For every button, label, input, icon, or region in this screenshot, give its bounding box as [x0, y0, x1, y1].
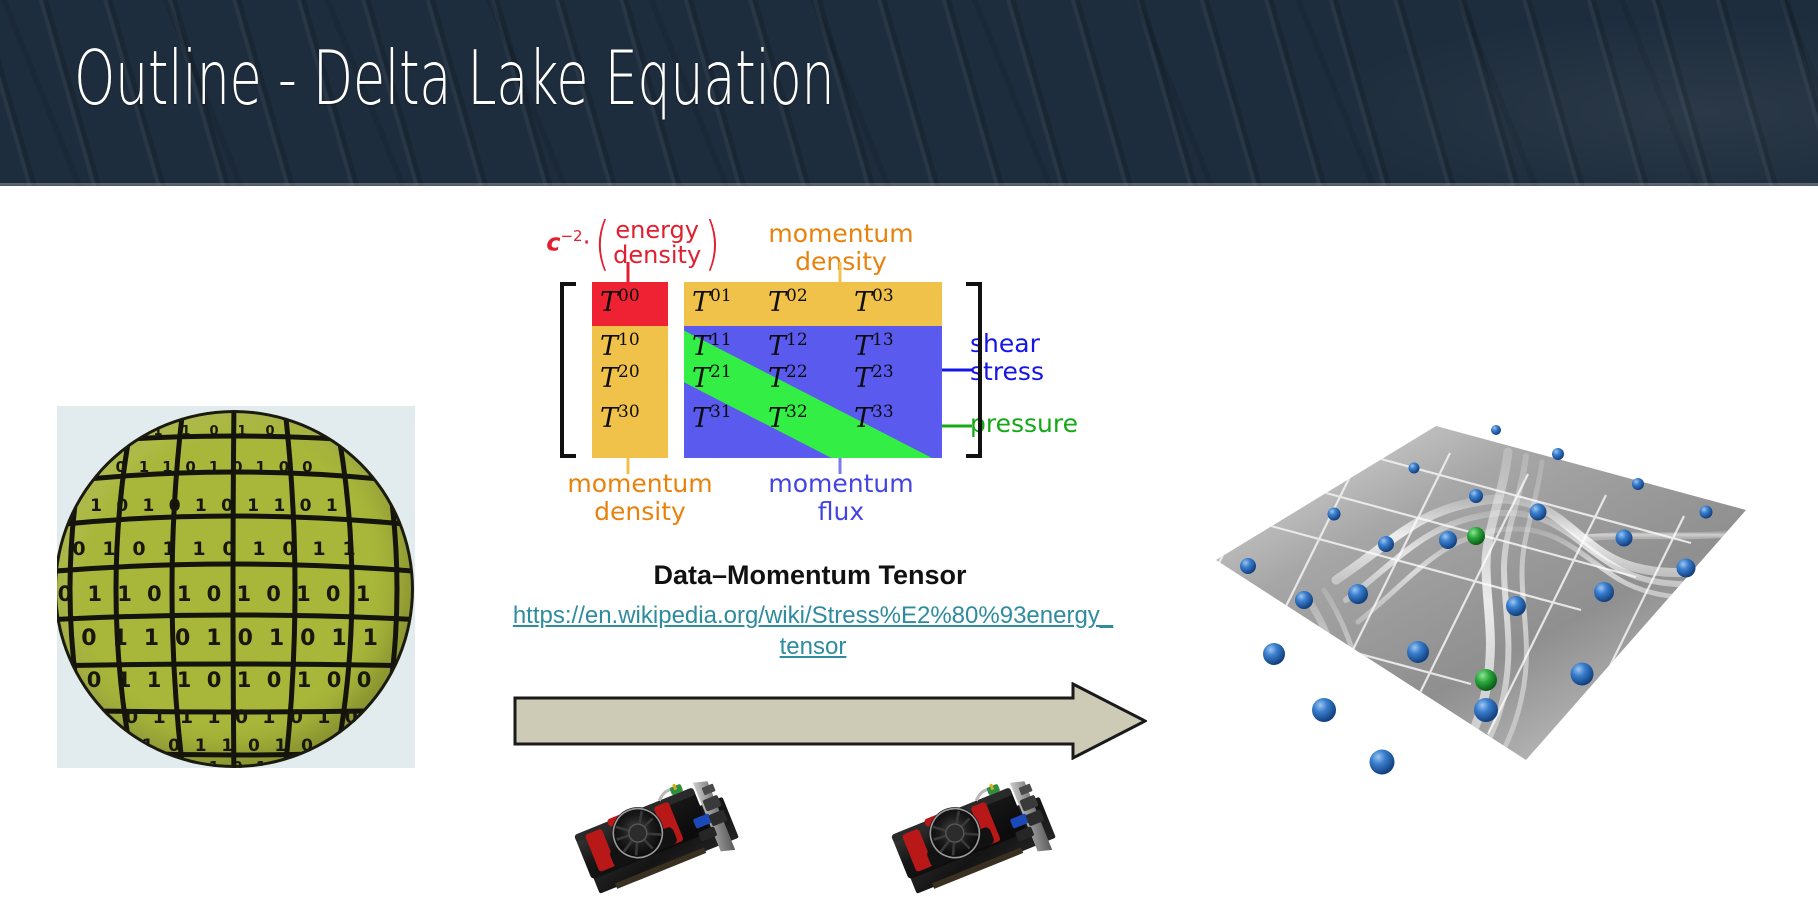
sphere-digit: 1	[209, 458, 219, 476]
sphere-grid-lines	[57, 410, 414, 768]
lattice-node-highlight-upper	[1467, 527, 1485, 545]
sphere-digit: 0	[221, 496, 233, 516]
sphere-digit: 1	[102, 538, 115, 560]
spacetime-lattice-diagram	[1186, 390, 1762, 780]
wikipedia-link-line2[interactable]: tensor	[780, 633, 847, 660]
sphere-digit: 0	[357, 668, 372, 692]
sphere-digit: 0	[267, 668, 282, 692]
sphere-digit: 1	[237, 424, 246, 439]
sphere-digit: 0	[115, 758, 125, 768]
tensor-matrix: T00T01T02T03T10T11T12T13T20T21T22T23T30T…	[592, 282, 942, 458]
sphere-digit: 1	[180, 706, 193, 728]
sphere-digit: 0	[70, 706, 83, 728]
sphere-digit: 1	[255, 458, 265, 476]
spacetime-lattice-image	[1186, 390, 1762, 780]
sphere-digit: 1	[297, 668, 312, 692]
sphere-digit: 0	[125, 706, 138, 728]
sphere-digit: 1	[356, 582, 371, 606]
sphere-digit: 1	[143, 496, 155, 516]
sphere-digit: 0	[290, 706, 303, 728]
matrix-cell-T10: T10	[600, 330, 640, 362]
sphere-digit: 1	[90, 496, 102, 516]
wikipedia-link-line1[interactable]: https://en.wikipedia.org/wiki/Stress%E2%…	[513, 602, 1113, 629]
sphere-digit: 0	[326, 582, 341, 606]
sphere-digit: 1	[275, 736, 287, 756]
flow-arrow-right	[513, 682, 1147, 760]
sphere-digit: 0	[232, 758, 242, 768]
sphere-digit: 0	[58, 582, 73, 606]
sphere-digit: 1	[153, 424, 162, 439]
sphere-digit: 1	[247, 496, 259, 516]
sphere-digit: 0	[279, 458, 289, 476]
sphere-digit: 0	[279, 758, 289, 768]
sphere-digit: 0	[132, 538, 145, 560]
sphere-digit: 1	[303, 758, 313, 768]
sphere-digit: 1	[331, 626, 346, 651]
sphere-digit: 1	[256, 758, 266, 768]
sphere-digit: 0	[169, 496, 181, 516]
sphere-digit: 0	[209, 424, 218, 439]
gpu-graphics-card-2	[882, 770, 1092, 920]
header-glow-overlay	[1258, 0, 1818, 186]
bracket-right-icon	[966, 282, 982, 458]
sphere-digit: 0	[345, 706, 358, 728]
matrix-cell-T01: T01	[692, 286, 732, 318]
matrix-cell-T21: T21	[692, 362, 732, 394]
sphere-digit: 1	[206, 626, 221, 651]
matrix-cell-T11: T11	[692, 330, 732, 362]
sphere-digit: 0	[235, 706, 248, 728]
sphere-digit: 0	[185, 458, 195, 476]
sphere-digit: 1	[252, 538, 265, 560]
header-bottom-rule	[0, 183, 1818, 186]
matrix-cell-T33: T33	[854, 402, 894, 434]
sphere-digit: 1	[57, 668, 71, 692]
sphere-digit: 1	[162, 758, 172, 768]
sphere-digit: 1	[87, 582, 102, 606]
sphere-digit: 0	[266, 582, 281, 606]
sphere-digit-row: 011010100	[109, 458, 319, 476]
sphere-digit: 1	[236, 582, 251, 606]
sphere-digit: 1	[139, 458, 149, 476]
sphere-digit: 0	[115, 736, 127, 756]
sphere-digit: 0	[115, 458, 125, 476]
sphere-digit: 0	[168, 736, 180, 756]
matrix-cell-T30: T30	[600, 402, 640, 434]
sphere-digit: 0	[175, 626, 190, 651]
sphere-digit: 1	[262, 706, 275, 728]
sphere-digit: 0	[302, 458, 312, 476]
matrix-cell-T00: T00	[600, 286, 640, 318]
sphere-digit: 1	[117, 582, 132, 606]
sphere-digit: 0	[232, 458, 242, 476]
sphere-digit: 0	[300, 496, 312, 516]
sphere-digit-row: 10111010100	[57, 668, 379, 692]
sphere-digit: 1	[88, 736, 100, 756]
sphere-digit-row: 11010	[144, 424, 284, 439]
sphere-digit: 1	[177, 668, 192, 692]
matrix-cell-T23: T23	[854, 362, 894, 394]
sphere-digit: 0	[300, 626, 315, 651]
sphere-digit: 0	[301, 736, 313, 756]
figure-caption: Data–Momentum Tensor	[470, 560, 1150, 591]
sphere-digit-row: 011010101	[108, 758, 320, 768]
sphere-digit-row: 01101010101	[57, 582, 378, 606]
page-title: Outline - Delta Lake Equation	[74, 34, 834, 122]
stress-energy-tensor-figure: c−2·(energydensity) momentum density mom…	[540, 218, 1100, 538]
sphere-digit: 1	[317, 706, 330, 728]
sphere-digit: 0	[116, 496, 128, 516]
matrix-cell-T12: T12	[768, 330, 808, 362]
binary-sphere-globe: 1101001101010010101011010101101011011010…	[57, 410, 414, 768]
sphere-digit: 0	[87, 668, 102, 692]
sphere-digit: 1	[312, 538, 325, 560]
sphere-digit-row: 01011101010	[63, 706, 365, 728]
sphere-digit: 1	[269, 626, 284, 651]
wikipedia-source-link[interactable]: https://en.wikipedia.org/wiki/Stress%E2%…	[438, 600, 1188, 662]
sphere-digit: 0	[222, 538, 235, 560]
sphere-digit: 1	[195, 496, 207, 516]
sphere-digit: 1	[117, 668, 132, 692]
sphere-digit: 1	[152, 706, 165, 728]
sphere-digit-row: 1010101101	[83, 496, 345, 516]
sphere-digit: 1	[181, 424, 190, 439]
gpu-card-icon	[882, 770, 1092, 920]
sphere-digit: 1	[57, 626, 65, 651]
sphere-digit: 1	[296, 582, 311, 606]
sphere-digit: 0	[207, 668, 222, 692]
sphere-digit: 0	[238, 626, 253, 651]
matrix-cell-T03: T03	[854, 286, 894, 318]
gpu-graphics-card-1	[565, 770, 775, 920]
sphere-digit: 1	[144, 626, 159, 651]
sphere-digit: 1	[209, 758, 219, 768]
sphere-digit: 0	[327, 668, 342, 692]
sphere-digit: 0	[282, 538, 295, 560]
sphere-digit: 1	[221, 736, 233, 756]
slide-canvas: Outline - Delta Lake Equation	[0, 0, 1818, 920]
sphere-digit: 1	[237, 668, 252, 692]
arrow-right-icon	[513, 682, 1147, 760]
sphere-digit: 0	[248, 736, 260, 756]
sphere-digit: 1	[142, 736, 154, 756]
sphere-digit: 1	[192, 538, 205, 560]
sphere-digit: 0	[72, 538, 85, 560]
matrix-cell-T20: T20	[600, 362, 640, 394]
sphere-digit: 0	[81, 626, 96, 651]
lattice-node-highlight-lower	[1475, 669, 1497, 691]
matrix-cell-T32: T32	[768, 402, 808, 434]
bracket-left-icon	[560, 282, 576, 458]
sphere-digit: 1	[195, 736, 207, 756]
sphere-digit: 1	[113, 626, 128, 651]
gpu-card-icon	[565, 770, 775, 920]
sphere-digit: 1	[162, 538, 175, 560]
sphere-digit: 0	[207, 582, 222, 606]
binary-sphere-image: 1101001101010010101011010101101011011010…	[57, 406, 415, 768]
sphere-digit: 1	[207, 706, 220, 728]
sphere-digit: 1	[326, 496, 338, 516]
sphere-digit: 1	[177, 582, 192, 606]
sphere-digit: 1	[342, 538, 355, 560]
sphere-digit-row: 1010110101	[81, 736, 347, 756]
matrix-cell-T13: T13	[854, 330, 894, 362]
sphere-digit: 1	[328, 736, 340, 756]
matrix-cell-T22: T22	[768, 362, 808, 394]
sphere-digit-row: 0101101011	[64, 538, 364, 560]
sphere-digit: 1	[138, 758, 148, 768]
sphere-digit: 1	[162, 458, 172, 476]
sphere-digit: 0	[185, 758, 195, 768]
matrix-cell-T02: T02	[768, 286, 808, 318]
sphere-digit: 0	[147, 582, 162, 606]
sphere-digit: 1	[147, 668, 162, 692]
matrix-cell-T31: T31	[692, 402, 732, 434]
sphere-digit: 1	[363, 626, 378, 651]
sphere-digit: 0	[265, 424, 274, 439]
sphere-digit: 1	[273, 496, 285, 516]
sphere-digit-row: 10110101011	[57, 626, 386, 651]
sphere-digit: 1	[98, 706, 111, 728]
